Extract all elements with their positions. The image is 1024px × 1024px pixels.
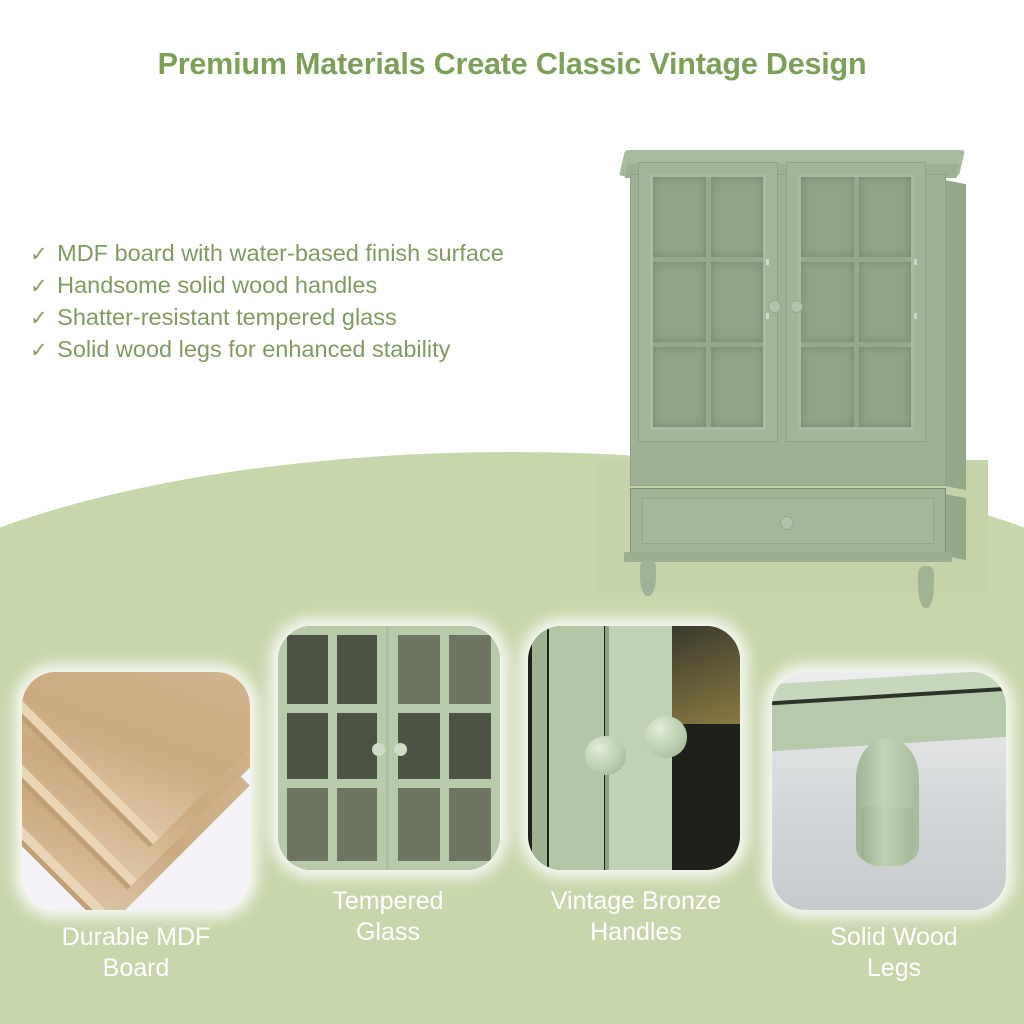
caption-bronze-handles: Vintage Bronze Handles [516, 886, 756, 948]
glass-pane [337, 788, 378, 861]
glass-pane [287, 635, 328, 704]
glass-pane [287, 788, 328, 861]
door-knob-right [790, 300, 803, 313]
mdf-board-stack [22, 672, 250, 910]
drawer-knob [780, 516, 794, 530]
feature-item-2-label: Handsome solid wood handles [57, 272, 377, 298]
glass-pane [711, 262, 764, 342]
feature-item-4-label: Solid wood legs for enhanced stability [57, 336, 450, 362]
glass-pane [449, 788, 491, 861]
glass-pane [859, 347, 912, 427]
feature-item-4: ✓ Solid wood legs for enhanced stability [30, 334, 590, 366]
feature-card-wood-legs[interactable] [772, 672, 1006, 910]
feature-item-3: ✓ Shatter-resistant tempered glass [30, 302, 590, 334]
door-knob-left [768, 300, 781, 313]
glass-pane-grid-left [650, 174, 766, 430]
glass-pane [449, 713, 491, 779]
background-blur [672, 626, 740, 724]
glass-pane [801, 262, 854, 342]
glass-pane-grid-right [798, 174, 914, 430]
hero-product-image [596, 140, 988, 592]
glass-pane [287, 713, 328, 779]
caption-tempered-glass: Tempered Glass [272, 886, 504, 948]
glass-pane [711, 347, 764, 427]
feature-card-row [0, 600, 1024, 900]
check-icon: ✓ [30, 243, 51, 266]
check-icon: ✓ [30, 307, 51, 330]
glass-pane [653, 262, 706, 342]
glass-pane [711, 177, 764, 257]
feature-item-1-label: MDF board with water-based finish surfac… [57, 240, 504, 266]
glass-pane [398, 788, 440, 861]
feature-card-bronze-handles[interactable] [528, 626, 740, 870]
glass-pane [859, 262, 912, 342]
glass-pane [337, 635, 378, 704]
glass-pane [449, 635, 491, 704]
check-icon: ✓ [30, 339, 51, 362]
cabinet-leg [640, 560, 656, 596]
cabinet-frame-strip [532, 626, 547, 870]
glass-pane [398, 635, 440, 704]
cabinet-side-panel [944, 180, 966, 490]
feature-list: ✓ MDF board with water-based finish surf… [30, 238, 590, 366]
glass-pane [653, 177, 706, 257]
glass-cabinet-photo [278, 626, 500, 870]
door-knob-left [585, 736, 625, 775]
cabinet-plinth [624, 552, 952, 562]
wood-leg-photo [772, 672, 1006, 910]
page-title: Premium Materials Create Classic Vintage… [0, 47, 1024, 82]
feature-card-mdf-board[interactable] [22, 672, 250, 910]
infographic-page: Premium Materials Create Classic Vintage… [0, 0, 1024, 1024]
glass-pane [337, 713, 378, 779]
glass-pane [653, 347, 706, 427]
cabinet-door-right [786, 162, 926, 442]
feature-item-2: ✓ Handsome solid wood handles [30, 270, 590, 302]
caption-wood-legs: Solid Wood Legs [776, 922, 1012, 984]
drawer-side-panel [944, 494, 966, 560]
glass-pane [859, 177, 912, 257]
door-knob-right [645, 716, 687, 757]
turned-wood-leg [856, 739, 919, 863]
glass-pane [801, 177, 854, 257]
caption-mdf-board: Durable MDF Board [16, 922, 256, 984]
cabinet-door-left [638, 162, 778, 442]
cabinet-drawer [630, 488, 946, 554]
check-icon: ✓ [30, 275, 51, 298]
feature-item-3-label: Shatter-resistant tempered glass [57, 304, 397, 330]
handles-closeup-photo [528, 626, 740, 870]
glass-pane [801, 347, 854, 427]
feature-card-tempered-glass[interactable] [278, 626, 500, 870]
feature-item-1: ✓ MDF board with water-based finish surf… [30, 238, 590, 270]
